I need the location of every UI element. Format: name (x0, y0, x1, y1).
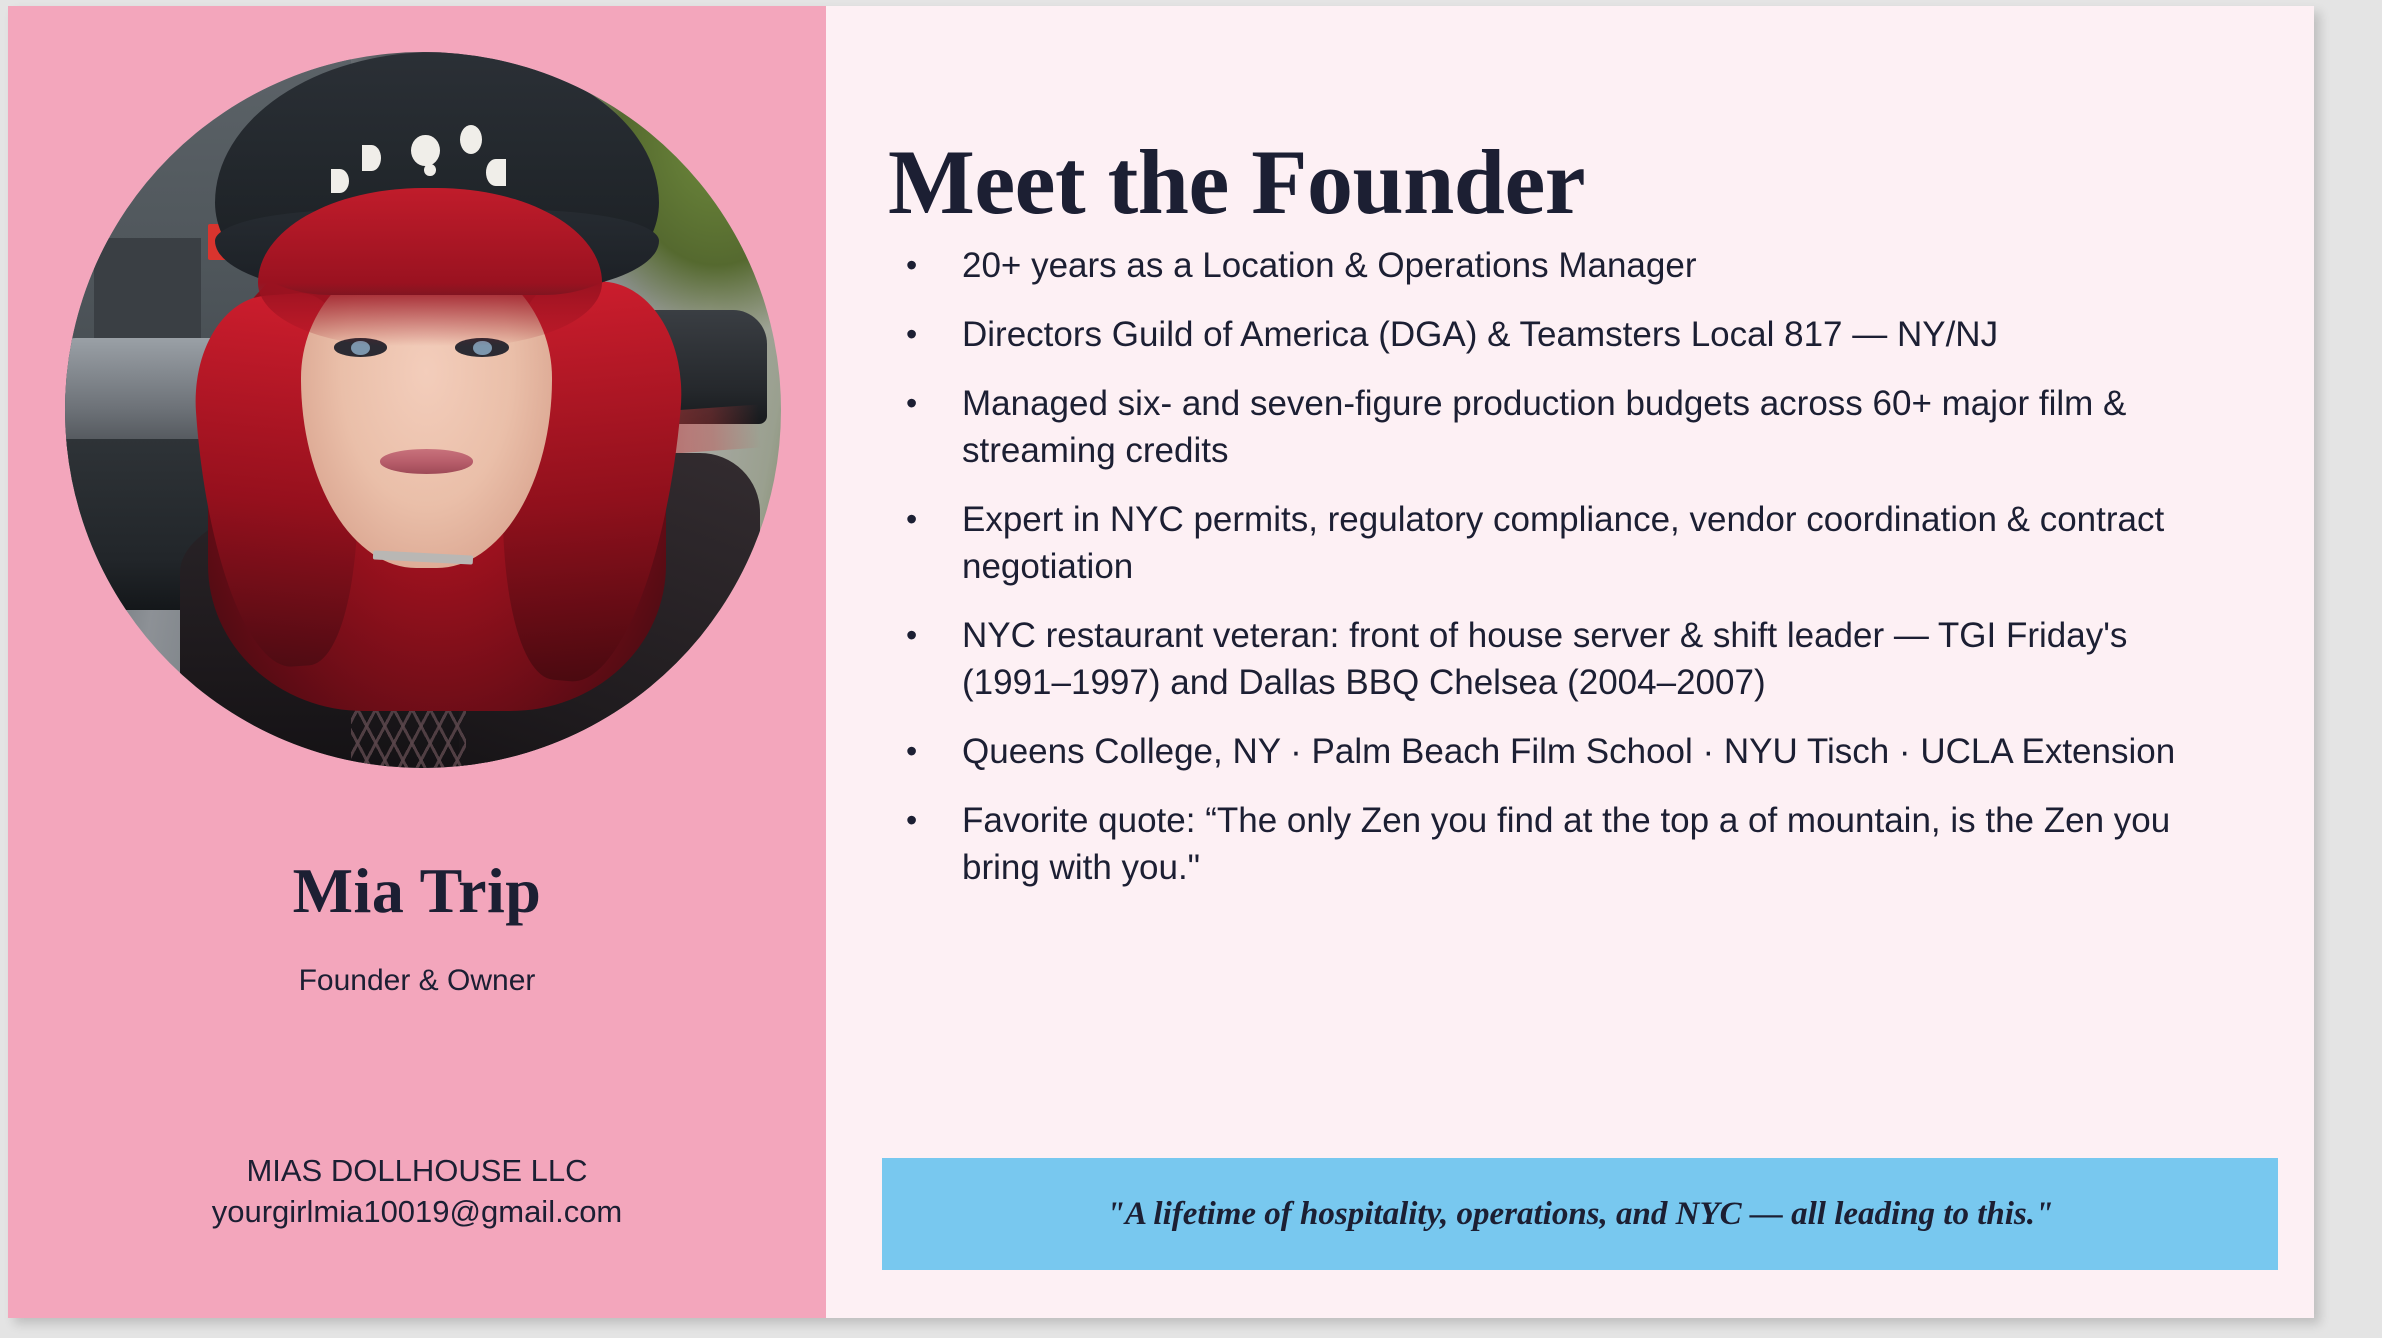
moon-phase-icon (331, 169, 350, 193)
bullet-dot-icon: • (884, 496, 962, 543)
founder-role: Founder & Owner (8, 964, 826, 998)
list-item-label: Favorite quote: “The only Zen you find a… (962, 797, 2234, 891)
page-title: Meet the Founder (888, 136, 1585, 228)
company-email[interactable]: yourgirlmia10019@gmail.com (8, 1191, 826, 1232)
list-item-label: Expert in NYC permits, regulatory compli… (962, 496, 2234, 590)
list-item-label: Queens College, NY · Palm Beach Film Sch… (962, 728, 2234, 775)
right-panel: Meet the Founder •20+ years as a Locatio… (826, 6, 2314, 1318)
sparkle-icon (424, 164, 436, 176)
quote-banner: "A lifetime of hospitality, operations, … (882, 1158, 2278, 1270)
list-item-label: 20+ years as a Location & Operations Man… (962, 242, 2234, 289)
bullet-dot-icon: • (884, 612, 962, 659)
bullet-dot-icon: • (884, 797, 962, 844)
list-item: •NYC restaurant veteran: front of house … (884, 612, 2234, 706)
company-contact-block: MIAS DOLLHOUSE LLC yourgirlmia10019@gmai… (8, 1150, 826, 1232)
founder-portrait (65, 52, 781, 768)
list-item-label: NYC restaurant veteran: front of house s… (962, 612, 2234, 706)
moon-phase-icon (486, 159, 506, 186)
moon-phase-icon (362, 145, 382, 172)
list-item: •20+ years as a Location & Operations Ma… (884, 242, 2234, 289)
moon-phase-icon (460, 125, 482, 154)
list-item: •Directors Guild of America (DGA) & Team… (884, 311, 2234, 358)
bullet-dot-icon: • (884, 311, 962, 358)
list-item: •Managed six- and seven-figure productio… (884, 380, 2234, 474)
portrait-photo (65, 52, 781, 768)
company-name: MIAS DOLLHOUSE LLC (8, 1150, 826, 1191)
bullet-dot-icon: • (884, 380, 962, 427)
moon-phase-icon (411, 135, 440, 167)
list-item: •Expert in NYC permits, regulatory compl… (884, 496, 2234, 590)
bullet-dot-icon: • (884, 728, 962, 775)
list-item-label: Directors Guild of America (DGA) & Teams… (962, 311, 2234, 358)
list-item: •Favorite quote: “The only Zen you find … (884, 797, 2234, 891)
list-item: •Queens College, NY · Palm Beach Film Sc… (884, 728, 2234, 775)
list-item-label: Managed six- and seven-figure production… (962, 380, 2234, 474)
bullet-dot-icon: • (884, 242, 962, 289)
slide-canvas: Mia Trip Founder & Owner MIAS DOLLHOUSE … (8, 6, 2314, 1318)
left-panel: Mia Trip Founder & Owner MIAS DOLLHOUSE … (8, 6, 826, 1318)
subject-lips (380, 449, 473, 473)
founder-name: Mia Trip (8, 854, 826, 928)
credentials-list: •20+ years as a Location & Operations Ma… (884, 242, 2234, 913)
quote-text: "A lifetime of hospitality, operations, … (1107, 1196, 2054, 1233)
